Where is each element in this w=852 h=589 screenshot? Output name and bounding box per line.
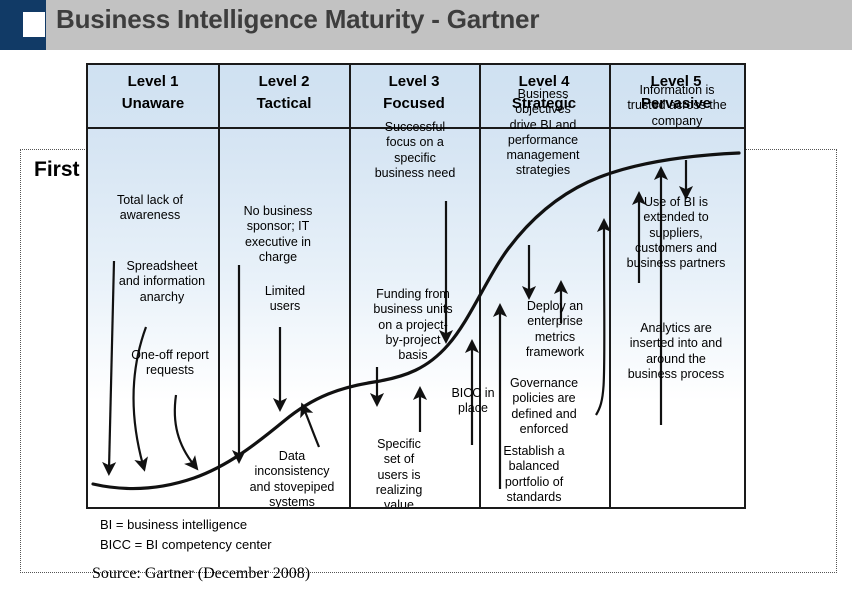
maturity-diagram: Level 1 Unaware Level 2 Tactical Level 3… (86, 63, 746, 509)
arrow-one-off-report-requests (175, 395, 194, 465)
note-use-of-bi-extended: Use of BI is extended to suppliers, cust… (610, 195, 742, 271)
note-analytics-inserted: Analytics are inserted into and around t… (608, 321, 744, 382)
title-bar: Business Intelligence Maturity - Gartner (0, 0, 852, 50)
page-title: Business Intelligence Maturity - Gartner (56, 4, 539, 35)
arrow-data-inconsistency (304, 409, 319, 447)
note-governance-policies: Governance policies are defined and enfo… (488, 376, 600, 437)
legend-line-bicc: BICC = BI competency center (100, 535, 272, 555)
source-attribution: Source: Gartner (December 2008) (92, 565, 310, 583)
note-limited-users: Limited users (240, 284, 330, 315)
note-data-inconsistency: Data inconsistency and stovepiped system… (230, 449, 354, 509)
legend-line-bi: BI = business intelligence (100, 515, 272, 535)
title-accent-block (0, 0, 46, 50)
abbreviation-legend: BI = business intelligence BICC = BI com… (100, 515, 272, 555)
note-specific-set-of-users: Specific set of users is realizing value (360, 437, 438, 509)
note-no-business-sponsor: No business sponsor; IT executive in cha… (222, 204, 334, 265)
title-bar-underline (0, 50, 852, 52)
note-total-lack-of-awareness: Total lack of awareness (94, 193, 206, 224)
note-deploy-enterprise-metrics: Deploy an enterprise metrics framework (500, 299, 610, 360)
first-label: First (30, 158, 84, 182)
note-information-is-trusted: Information is trusted across the compan… (612, 83, 742, 129)
note-spreadsheet-anarchy: Spreadsheet and information anarchy (106, 259, 218, 305)
note-funding-business-units: Funding from business units on a project… (352, 287, 474, 363)
note-successful-focus: Successful focus on a specific business … (356, 120, 474, 181)
title-accent-inner-square (23, 12, 45, 37)
note-establish-balanced-portfolio: Establish a balanced portfolio of standa… (484, 444, 584, 505)
note-one-off-report-requests: One-off report requests (118, 348, 222, 379)
note-business-objectives: Business objectives drive BI and perform… (484, 87, 602, 179)
